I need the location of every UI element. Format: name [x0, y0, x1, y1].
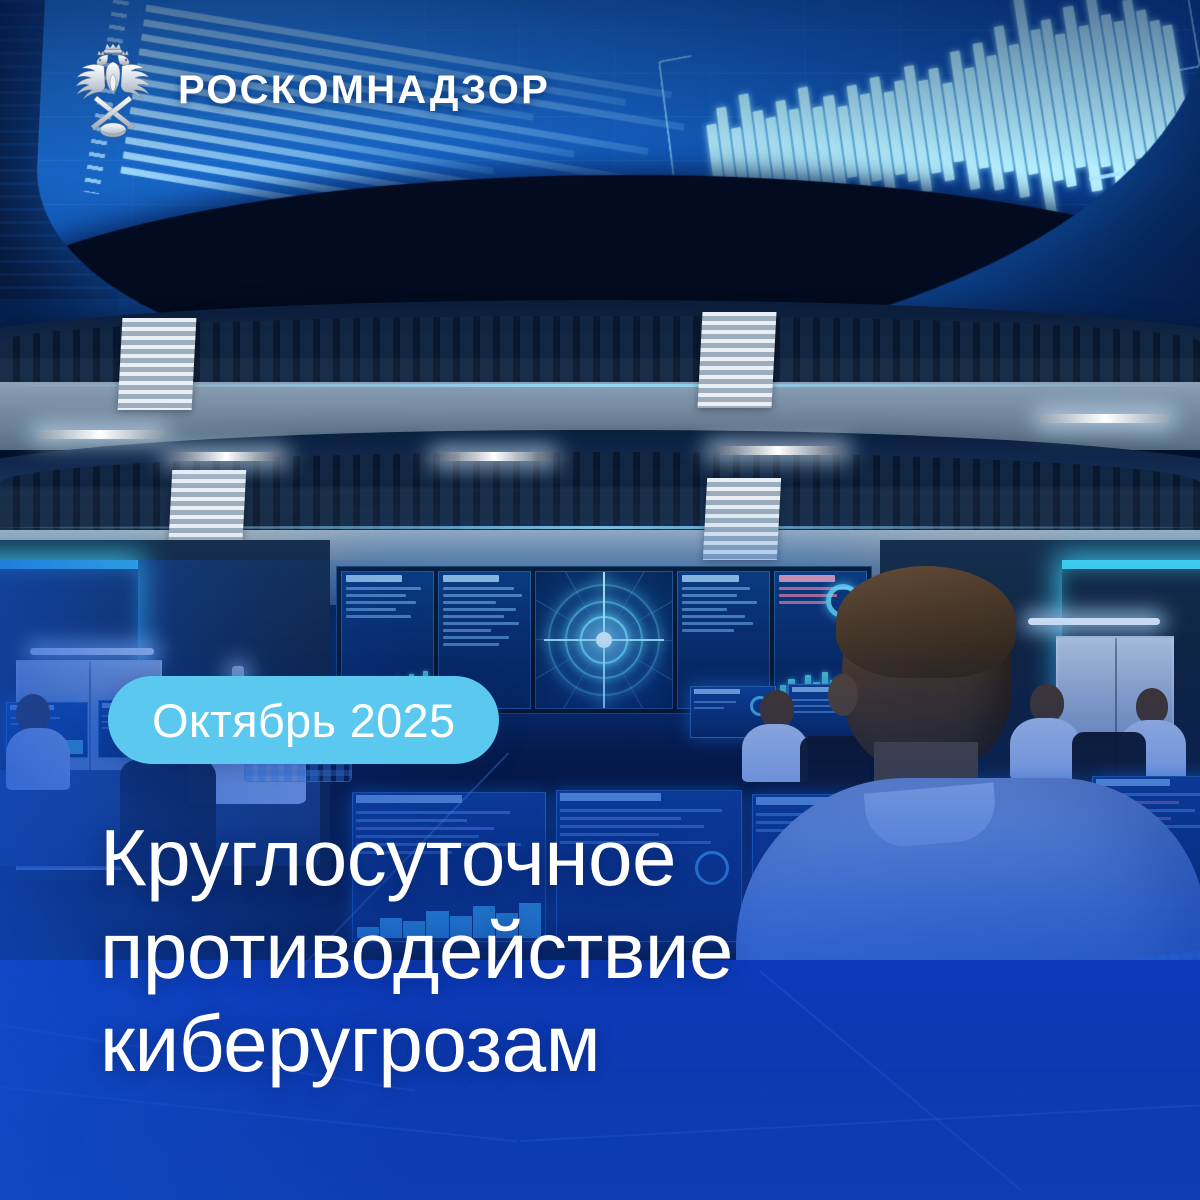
ceiling-light-1 [36, 430, 164, 439]
ceiling-light-4 [710, 446, 846, 455]
headline-line-1: Круглосуточное [100, 812, 920, 905]
headline-line-3: киберугрозам [100, 998, 920, 1091]
double-headed-eagle-emblem-icon [70, 38, 156, 142]
date-badge-label: Октябрь 2025 [152, 693, 455, 748]
ceiling-light-5 [1040, 414, 1170, 423]
headline-line-2: противодействие [100, 905, 920, 998]
brand-name: РОСКОМНАДЗОР [178, 70, 550, 110]
date-badge[interactable]: Октябрь 2025 [108, 676, 499, 764]
social-media-card: РОСКОМНАДЗОР Октябрь 2025 Круглосуточное… [0, 0, 1200, 1200]
staircase-upper-left [118, 318, 197, 410]
staircase-upper-right [697, 312, 776, 408]
brand-logo: РОСКОМНАДЗОР [70, 38, 550, 142]
ceiling-light-2 [168, 452, 284, 461]
page-title: Круглосуточное противодействие киберугро… [100, 812, 920, 1090]
ceiling-light-3 [434, 452, 554, 461]
